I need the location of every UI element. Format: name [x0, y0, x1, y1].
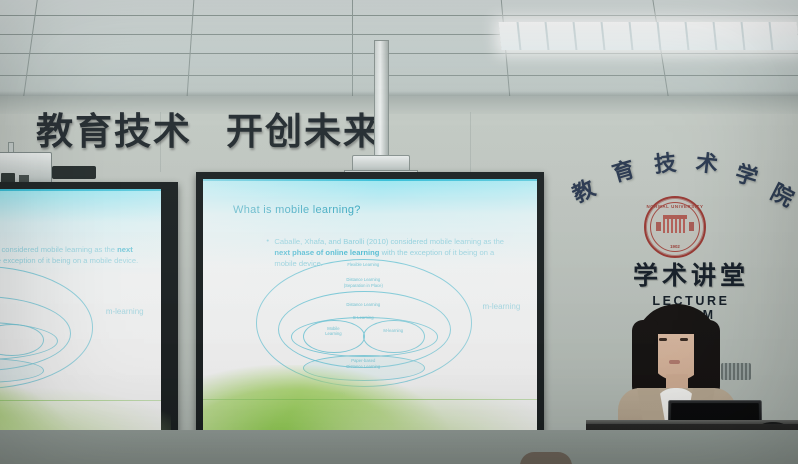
diagram-label-3: E-Learning — [256, 315, 470, 321]
university-seal: NORMAL UNIVERSITY 1902 — [644, 196, 706, 258]
left-projection-screen[interactable]: What is mobile learning? Caballe, Xhafa,… — [0, 182, 178, 437]
ceiling-light-panel — [499, 22, 798, 50]
ellipse-m-learning — [363, 320, 425, 353]
arc-char-5: 院 — [766, 175, 798, 214]
seal-text: NORMAL UNIVERSITY — [646, 204, 704, 209]
left-bullet-prefix: Caballe, Xhafa, and Barolli (2010) consi… — [0, 245, 117, 254]
wall-slogan: 教育技术 开创未来 — [36, 100, 456, 156]
lecture-sign-chinese: 学术讲堂 — [625, 256, 757, 292]
diagram-label-1: Distance Learning (Separation in Place) — [256, 277, 470, 288]
seal-year: 1902 — [646, 244, 704, 249]
left-bullet-suffix: with the exception of it being on a mobi… — [0, 256, 138, 265]
right-projection-screen[interactable]: What is mobile learning? Caballe, Xhafa,… — [196, 172, 544, 437]
floor — [0, 430, 798, 464]
wall-seam-right — [470, 112, 471, 172]
bullet-prefix: Caballe, Xhafa, and Barolli (2010) consi… — [274, 237, 504, 246]
diagram-label-0: Flexible Learning — [256, 262, 470, 268]
diagram-label-2: Distance Learning — [256, 302, 470, 308]
left-slide-surface: What is mobile learning? Caballe, Xhafa,… — [0, 189, 161, 430]
ceiling — [0, 0, 798, 104]
arc-char-3: 术 — [694, 145, 719, 179]
left-slide-bullets: Caballe, Xhafa, and Barolli (2010) consi… — [0, 244, 140, 266]
right-slide-surface: What is mobile learning? Caballe, Xhafa,… — [203, 179, 537, 430]
seal-building-icon — [663, 215, 687, 233]
arc-char-0: 教 — [566, 171, 600, 209]
diagram-label-4: Mobile Learning — [303, 326, 363, 337]
arc-char-4: 学 — [732, 155, 762, 192]
wall-slogan-part2: 开创未来 — [226, 101, 382, 155]
projector-pole — [374, 40, 389, 160]
diagram-label-5: M-learning — [363, 328, 423, 334]
left-slide-side-label: m-learning — [106, 307, 144, 316]
lecture-hall-photo: 教育技术 开创未来 What is mobile learning? Cabal… — [0, 0, 798, 464]
slide-side-label: m-learning — [483, 302, 521, 311]
bullet-highlight: next phase of online learning — [274, 248, 379, 257]
wall-slogan-part1: 教育技术 — [36, 101, 192, 155]
arc-char-1: 育 — [608, 152, 638, 189]
wall-speaker — [52, 166, 96, 179]
arc-char-2: 技 — [652, 145, 677, 179]
foreground-object — [520, 452, 572, 464]
slide-title: What is mobile learning? — [233, 204, 361, 216]
